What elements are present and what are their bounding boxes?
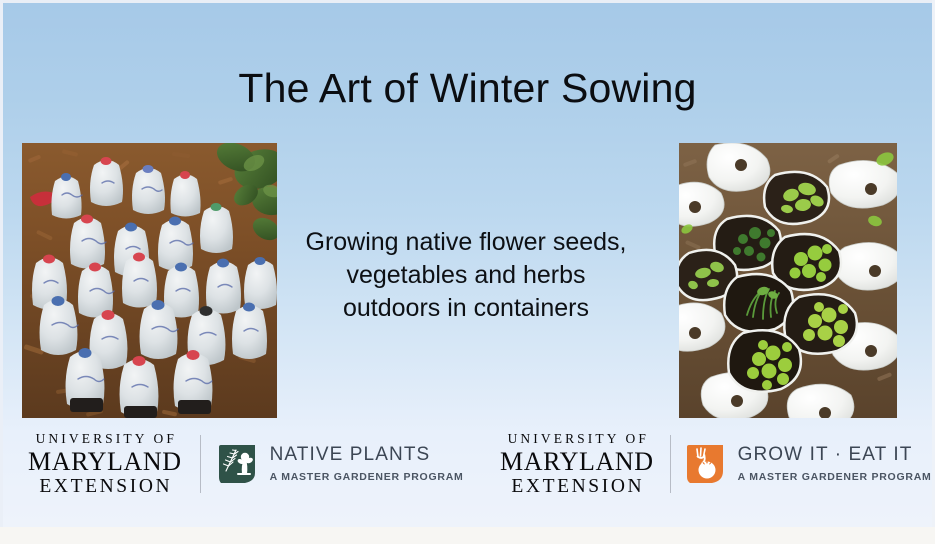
milk-jugs-photo-graphic	[22, 143, 277, 418]
program-text-grow-it-eat-it: GROW IT · EAT IT A MASTER GARDENER PROGR…	[738, 445, 932, 482]
umd-line-university-of: UNIVERSITY OF	[33, 432, 177, 446]
logo-lockup-native-plants: UNIVERSITY OF MARYLAND EXTENSION	[28, 432, 464, 496]
slide-subtitle: Growing native flower seeds, vegetables …	[286, 226, 646, 325]
logo-lockup-grow-it-eat-it: UNIVERSITY OF MARYLAND EXTENSION	[500, 432, 932, 496]
umd-line-extension: EXTENSION	[509, 477, 644, 497]
presentation-slide: The Art of Winter Sowing Growing native …	[0, 0, 935, 544]
slide-title: The Art of Winter Sowing	[0, 66, 935, 111]
umd-line-university-of: UNIVERSITY OF	[505, 432, 649, 446]
fern-leaf-icon	[217, 443, 259, 485]
program-block-native-plants: NATIVE PLANTS A MASTER GARDENER PROGRAM	[217, 443, 464, 485]
program-subtitle-grow-it-eat-it: A MASTER GARDENER PROGRAM	[738, 472, 932, 483]
logo-divider-right	[670, 435, 671, 493]
program-text-native-plants: NATIVE PLANTS A MASTER GARDENER PROGRAM	[270, 445, 464, 482]
program-block-grow-it-eat-it: GROW IT · EAT IT A MASTER GARDENER PROGR…	[685, 443, 932, 485]
seedlings-photo-graphic	[679, 143, 897, 418]
program-subtitle-native-plants: A MASTER GARDENER PROGRAM	[270, 472, 464, 483]
umd-line-maryland: MARYLAND	[500, 449, 654, 475]
photo-seedlings-overhead	[679, 143, 897, 418]
slide-border-top	[0, 0, 935, 3]
tomato-fork-icon	[685, 443, 727, 485]
umd-line-extension: EXTENSION	[37, 477, 172, 497]
umd-line-maryland: MARYLAND	[28, 449, 182, 475]
umd-extension-wordmark-right: UNIVERSITY OF MARYLAND EXTENSION	[500, 432, 654, 496]
program-title-native-plants: NATIVE PLANTS	[270, 445, 464, 465]
umd-extension-wordmark-left: UNIVERSITY OF MARYLAND EXTENSION	[28, 432, 182, 496]
logo-divider-left	[200, 435, 201, 493]
slide-border-bottom	[0, 527, 935, 544]
photo-milk-jugs-mulch	[22, 143, 277, 418]
subtitle-line-2: vegetables and herbs	[286, 259, 646, 292]
program-title-grow-it-eat-it: GROW IT · EAT IT	[738, 445, 932, 465]
subtitle-line-3: outdoors in containers	[286, 292, 646, 325]
subtitle-line-1: Growing native flower seeds,	[286, 226, 646, 259]
